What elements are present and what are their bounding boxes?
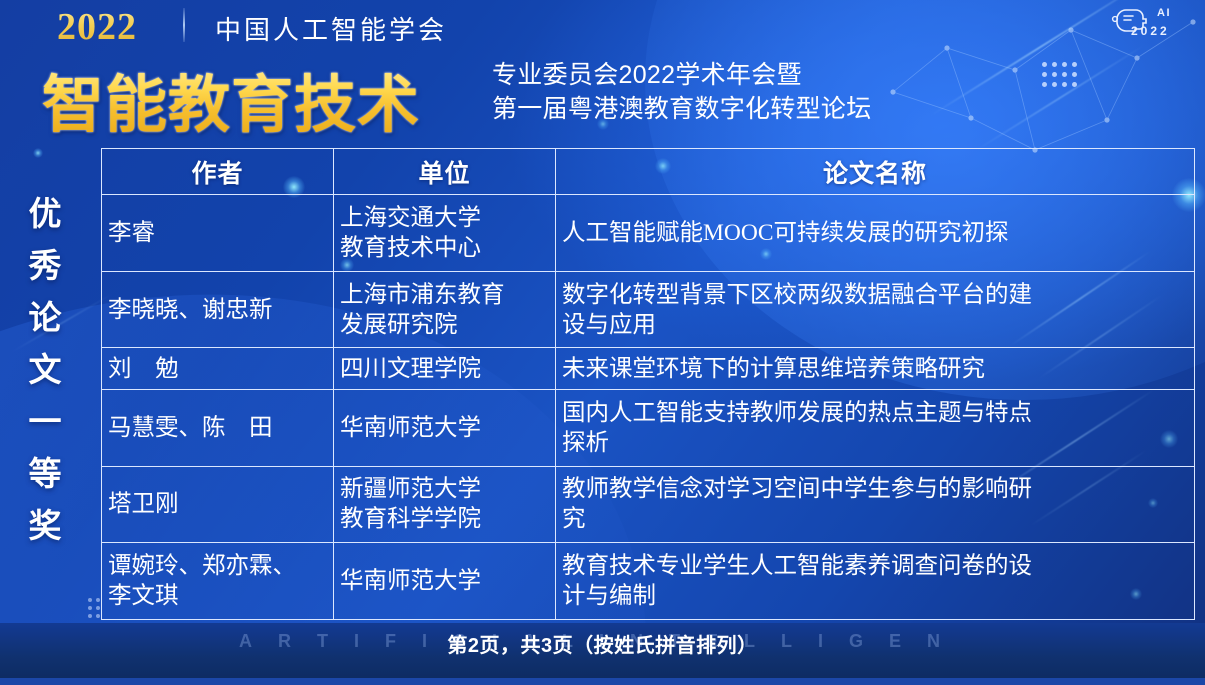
cell-organization: 上海市浦东教育 发展研究院 [334, 271, 556, 348]
cell-line: 教育技术专业学生人工智能素养调查问卷的设 [562, 551, 1188, 581]
cell-line: 人工智能赋能MOOC可持续发展的研究初探 [562, 218, 1188, 248]
table-row: 谭婉玲、郑亦霖、 李文琪 华南师范大学 教育技术专业学生人工智能素养调查问卷的设… [102, 543, 1195, 620]
table-row: 李睿 上海交通大学 教育技术中心 人工智能赋能MOOC可持续发展的研究初探 [102, 195, 1195, 272]
award-label-char: 论 [22, 292, 68, 344]
cell-line: 新疆师范大学 [340, 474, 549, 504]
header-organization: 中国人工智能学会 [215, 10, 447, 47]
cell-line: 教师教学信念对学习空间中学生参与的影响研 [562, 474, 1188, 504]
cell-line: 设与应用 [562, 310, 1188, 340]
cell-line: 四川文理学院 [340, 354, 549, 384]
papers-table: 作者 单位 论文名称 李睿 上海交通大学 教育技术中心 [101, 148, 1195, 620]
cell-line: 教育技术中心 [340, 233, 549, 263]
award-label-char: 等 [22, 448, 68, 500]
cell-paper-title: 教师教学信念对学习空间中学生参与的影响研 究 [556, 466, 1195, 543]
cell-paper-title: 数字化转型背景下区校两级数据融合平台的建 设与应用 [556, 271, 1195, 348]
footer-bottom-strip [0, 678, 1205, 685]
header-divider [183, 8, 185, 42]
footer-bar: ARTIFICIALINTELLIGEN 第2页，共3页（按姓氏拼音排列） [0, 623, 1205, 685]
ai-logo-label: AI [1157, 7, 1171, 19]
cell-line: 教育科学学院 [340, 504, 549, 534]
cell-line: 谭婉玲、郑亦霖、 [108, 551, 327, 581]
cell-line: 李睿 [108, 218, 327, 248]
award-label-char: 优 [22, 188, 68, 240]
cell-line: 华南师范大学 [340, 566, 549, 596]
table-header-row: 作者 单位 论文名称 [102, 149, 1195, 195]
award-label-char: 秀 [22, 240, 68, 292]
cell-author: 谭婉玲、郑亦霖、 李文琪 [102, 543, 334, 620]
cell-line: 数字化转型背景下区校两级数据融合平台的建 [562, 280, 1188, 310]
table-body: 李睿 上海交通大学 教育技术中心 人工智能赋能MOOC可持续发展的研究初探 [102, 195, 1195, 620]
cell-author: 李睿 [102, 195, 334, 272]
column-header-organization: 单位 [334, 149, 556, 195]
award-category-label: 优 秀 论 文 一 等 奖 [22, 188, 68, 552]
cell-paper-title: 教育技术专业学生人工智能素养调查问卷的设 计与编制 [556, 543, 1195, 620]
header-year: 2022 [57, 5, 137, 49]
cell-line: 发展研究院 [340, 310, 549, 340]
column-header-author: 作者 [102, 149, 334, 195]
papers-table-container: 作者 单位 论文名称 李睿 上海交通大学 教育技术中心 [101, 148, 1195, 620]
glow-dot [33, 148, 43, 158]
cell-organization: 新疆师范大学 教育科学学院 [334, 466, 556, 543]
cell-line: 上海交通大学 [340, 203, 549, 233]
table-row: 刘 勉 四川文理学院 未来课堂环境下的计算思维培养策略研究 [102, 348, 1195, 389]
ai-logo-year: 2022 [1131, 24, 1170, 38]
header-subtitle: 专业委员会2022学术年会暨 第一届粤港澳教育数字化转型论坛 [492, 58, 872, 126]
table-row: 塔卫刚 新疆师范大学 教育科学学院 教师教学信念对学习空间中学生参与的影响研 究 [102, 466, 1195, 543]
cell-paper-title: 未来课堂环境下的计算思维培养策略研究 [556, 348, 1195, 389]
table-row: 李晓晓、谢忠新 上海市浦东教育 发展研究院 数字化转型背景下区校两级数据融合平台… [102, 271, 1195, 348]
ai-2022-logo: AI 2022 [1111, 4, 1193, 44]
cell-line: 刘 勉 [108, 354, 327, 384]
cell-line: 上海市浦东教育 [340, 280, 549, 310]
cell-organization: 华南师范大学 [334, 543, 556, 620]
dot-grid-decoration-bottom [88, 598, 100, 618]
cell-line: 究 [562, 504, 1188, 534]
cell-organization: 上海交通大学 教育技术中心 [334, 195, 556, 272]
cell-author: 刘 勉 [102, 348, 334, 389]
column-header-paper-title: 论文名称 [556, 149, 1195, 195]
cell-line: 马慧雯、陈 田 [108, 413, 327, 443]
cell-line: 计与编制 [562, 581, 1188, 611]
cell-line: 塔卫刚 [108, 489, 327, 519]
cell-line: 李文琪 [108, 581, 327, 611]
page-title: 智能教育技术 [42, 54, 420, 144]
cell-line: 国内人工智能支持教师发展的热点主题与特点 [562, 398, 1188, 428]
cell-line: 探析 [562, 428, 1188, 458]
cell-author: 李晓晓、谢忠新 [102, 271, 334, 348]
cell-organization: 四川文理学院 [334, 348, 556, 389]
header-subtitle-line2: 第一届粤港澳教育数字化转型论坛 [492, 92, 872, 126]
award-label-char: 文 [22, 344, 68, 396]
cell-author: 塔卫刚 [102, 466, 334, 543]
cell-line: 华南师范大学 [340, 413, 549, 443]
award-label-char: 一 [22, 396, 68, 448]
cell-paper-title: 国内人工智能支持教师发展的热点主题与特点 探析 [556, 389, 1195, 466]
slide-canvas: 2022 中国人工智能学会 智能教育技术 专业委员会2022学术年会暨 第一届粤… [0, 0, 1205, 685]
table-row: 马慧雯、陈 田 华南师范大学 国内人工智能支持教师发展的热点主题与特点 探析 [102, 389, 1195, 466]
page-indicator: 第2页，共3页（按姓氏拼音排列） [0, 629, 1205, 658]
cell-line: 未来课堂环境下的计算思维培养策略研究 [562, 354, 1188, 384]
cell-paper-title: 人工智能赋能MOOC可持续发展的研究初探 [556, 195, 1195, 272]
cell-line: 李晓晓、谢忠新 [108, 295, 327, 325]
dot-grid-decoration-top [1042, 62, 1077, 87]
header-subtitle-line1: 专业委员会2022学术年会暨 [492, 58, 872, 92]
cell-author: 马慧雯、陈 田 [102, 389, 334, 466]
award-label-char: 奖 [22, 500, 68, 552]
cell-organization: 华南师范大学 [334, 389, 556, 466]
